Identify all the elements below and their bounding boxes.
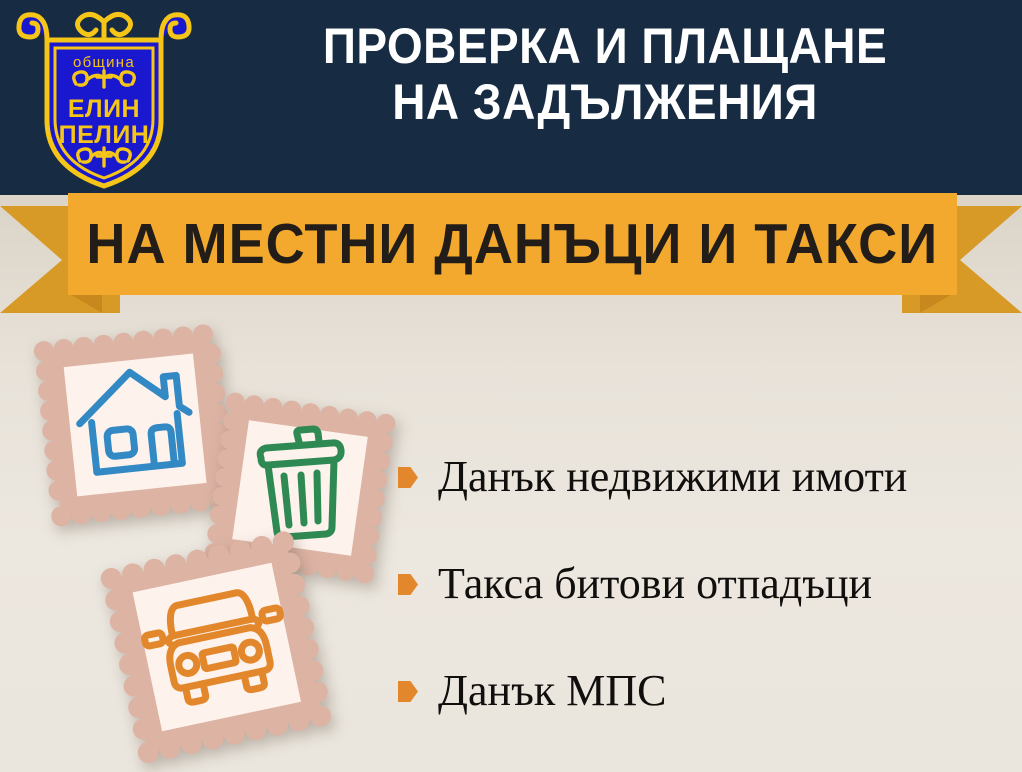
subtitle-ribbon: НА МЕСТНИ ДАНЪЦИ И ТАКСИ: [0, 193, 1022, 319]
poster-canvas: община ЕЛИН ПЕЛИН ПРОВЕРКА И П: [0, 0, 1022, 772]
title-line-1: ПРОВЕРКА И ПЛАЩАНЕ: [228, 18, 982, 74]
ribbon-band: НА МЕСТНИ ДАНЪЦИ И ТАКСИ: [68, 193, 957, 295]
list-item-label: Данък МПС: [438, 668, 666, 714]
ribbon-label: НА МЕСТНИ ДАНЪЦИ И ТАКСИ: [87, 216, 939, 273]
title-line-2: НА ЗАДЪЛЖЕНИЯ: [228, 74, 982, 130]
list-item-label: Данък недвижими имоти: [438, 454, 907, 500]
tax-types-list: Данък недвижими имоти Такса битови отпад…: [398, 424, 1008, 745]
list-item-label: Такса битови отпадъци: [438, 561, 872, 607]
stamp-card-vehicle: [98, 528, 336, 768]
arrow-bullet-icon: [398, 574, 418, 595]
list-item: Такса битови отпадъци: [398, 531, 1008, 638]
poster-title: ПРОВЕРКА И ПЛАЩАНЕ НА ЗАДЪЛЖЕНИЯ: [195, 18, 1015, 130]
crest-name-line-1: ЕЛИН: [68, 95, 140, 123]
list-item: Данък МПС: [398, 638, 1008, 745]
crest-name-line-2: ПЕЛИН: [59, 121, 150, 149]
arrow-bullet-icon: [398, 467, 418, 488]
arrow-bullet-icon: [398, 681, 418, 702]
list-item: Данък недвижими имоти: [398, 424, 1008, 531]
municipality-crest-logo: община ЕЛИН ПЕЛИН: [14, 4, 194, 190]
crest-municipality-word: община: [73, 54, 135, 71]
